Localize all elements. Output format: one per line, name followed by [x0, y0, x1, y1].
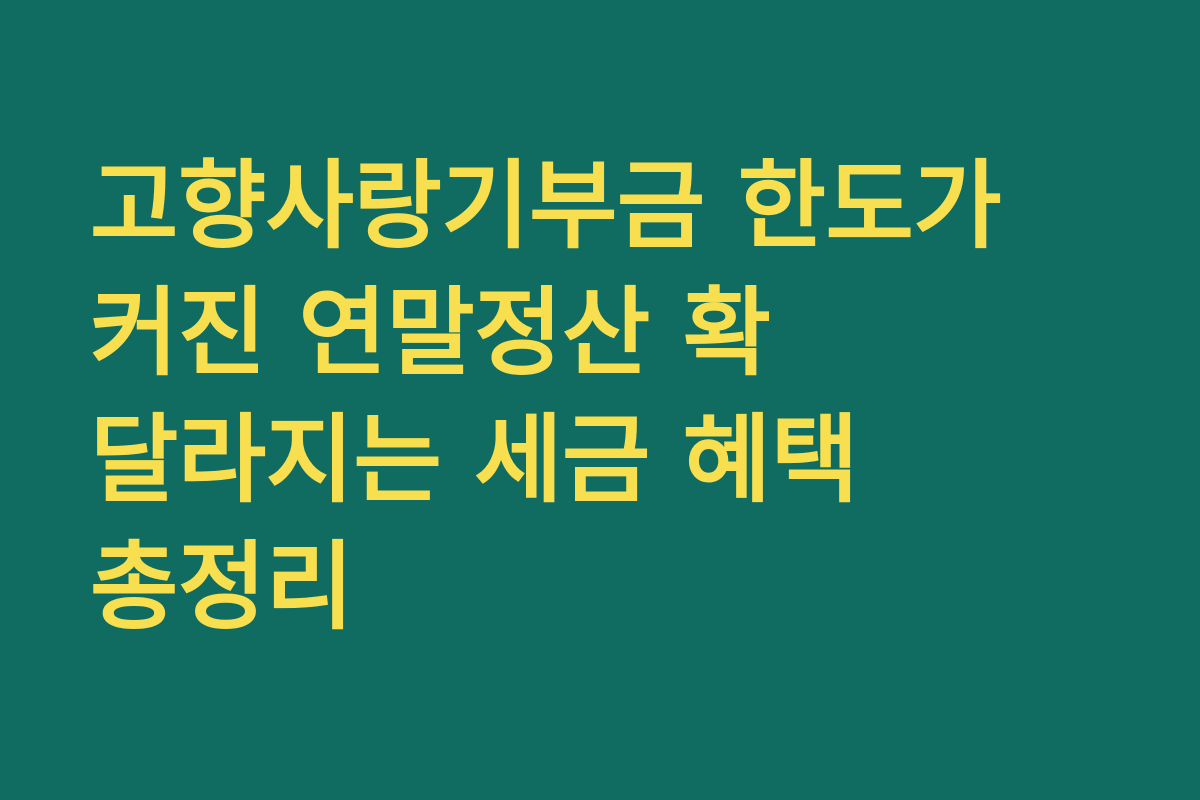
thumbnail-canvas: 고향사랑기부금 한도가 커진 연말정산 확 달라지는 세금 혜택 총정리 — [0, 0, 1200, 800]
headline-block: 고향사랑기부금 한도가 커진 연말정산 확 달라지는 세금 혜택 총정리 — [0, 143, 1200, 651]
page-title: 고향사랑기부금 한도가 커진 연말정산 확 달라지는 세금 혜택 총정리 — [90, 143, 1120, 651]
